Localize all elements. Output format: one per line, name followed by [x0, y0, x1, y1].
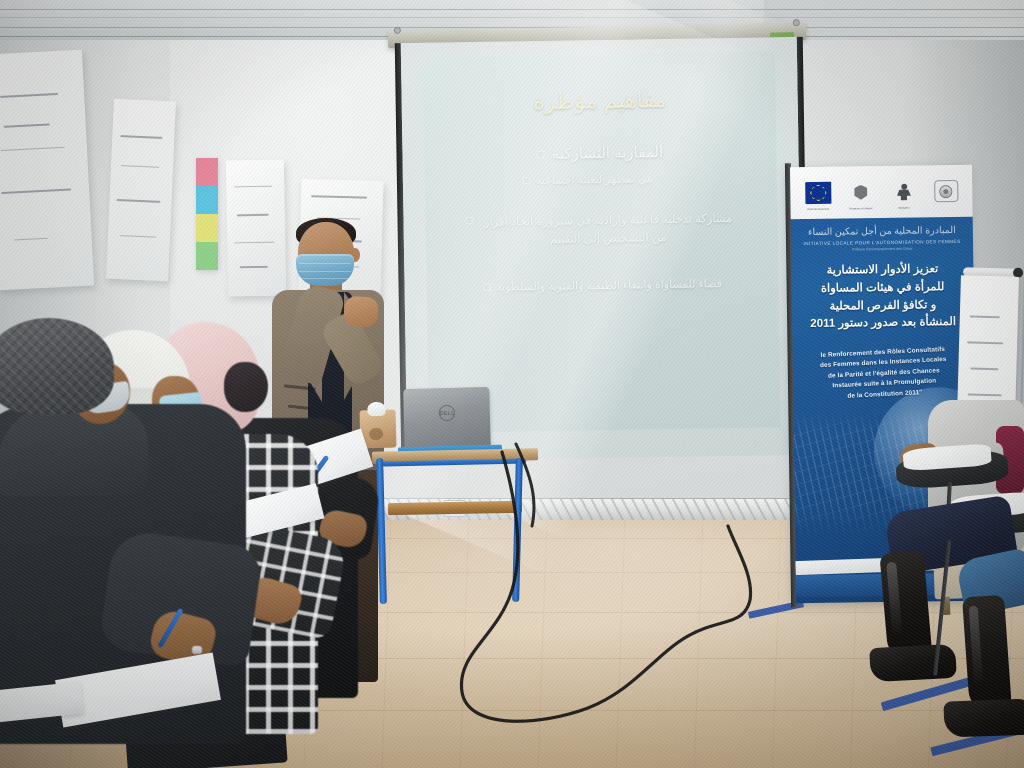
morocco-crest-logo: Royaume du Maroc [848, 181, 874, 203]
banner-header-french: INITIATIVE LOCALE POUR L'AUTONOMISATION … [797, 239, 967, 246]
slide-bullet-level1: المقاربة التشاركية [450, 142, 750, 165]
presentation-slide: مفاهيم مؤطرة المقاربة التشاركية هي تمظهر… [449, 76, 754, 393]
wall-poster-2 [106, 99, 176, 282]
participant-boot [962, 595, 1012, 714]
participant-hood [0, 404, 148, 496]
ministry-figure-logo: Ministère [891, 181, 917, 203]
square-bullet-icon [483, 284, 490, 291]
slide-bullet-text: هي تمظهر لتعبئة اجتماعية [536, 172, 653, 187]
banner-title-line: المنشأة بعد صدور دستور 2011 [798, 314, 968, 334]
banner-title-line: تعزيز الأدوار الاستشارية [797, 261, 967, 281]
banner-header-arabic: المبادرة المحلية من أجل تمكين النساء [797, 225, 967, 238]
participant-blue-jeans [898, 530, 1024, 768]
slide-bullet-text: المقاربة التشاركية [552, 143, 664, 163]
slide-bullet-text: مشاركة تدخلية فاعلية وإرادية في سيرورة ا… [478, 210, 738, 251]
logo-caption: Royaume du Maroc [849, 207, 872, 210]
slide-bullet-level2: فضاء للمساواة وانتفاء الطبقية والفئوية و… [452, 276, 752, 294]
workshop-photo-scene: مفاهيم مؤطرة المقاربة التشاركية هي تمظهر… [0, 0, 1024, 768]
color-strip-poster [196, 158, 218, 270]
laptop[interactable]: DELL [403, 387, 491, 449]
wall-poster-1 [0, 50, 94, 291]
participant-boot [943, 698, 1024, 737]
presenter-face-mask [296, 254, 354, 286]
eu-flag-logo: Union Européenne [805, 182, 831, 204]
circular-association-logo [934, 180, 958, 202]
banner-header-sub: Politique d'accompagnement des Chaux [797, 246, 967, 252]
banner-title-arabic: تعزيز الأدوار الاستشارية للمرأة في هيئات… [797, 261, 968, 335]
participant-boot [869, 644, 957, 682]
slide-title: مفاهيم مؤطرة [449, 86, 749, 117]
presenter-desk: DELL [372, 436, 538, 608]
square-bullet-icon [465, 217, 472, 224]
slide-bullet-text: فضاء للمساواة وانتفاء الطبقية والفئوية و… [496, 277, 722, 294]
banner-title-line: و تكافؤ الفرص المحلية [798, 296, 968, 316]
logo-caption: Ministère [899, 207, 910, 210]
slide-bullet-level2: هي تمظهر لتعبئة اجتماعية [451, 171, 751, 189]
banner-header: المبادرة المحلية من أجل تمكين النساء INI… [797, 225, 967, 252]
laptop-brand-mark: DELL [439, 405, 455, 421]
slide-bullet-level2: مشاركة تدخلية فاعلية وإرادية في سيرورة ا… [451, 210, 752, 251]
finger-ring [192, 646, 202, 654]
banner-title-french: le Renforcement des Rôles Consultatifs d… [798, 344, 970, 404]
square-bullet-icon [523, 177, 530, 184]
logo-caption: Union Européenne [807, 208, 829, 211]
banner-logo-bar: Union Européenne Royaume du Maroc Minist… [790, 165, 973, 220]
square-bullet-icon [538, 150, 545, 157]
projected-slide-area: مفاهيم مؤطرة المقاربة التشاركية هي تمظهر… [423, 51, 781, 432]
participant-knit-beanie [0, 318, 114, 414]
banner-title-line: للمرأة في هيئات المساواة [798, 279, 968, 299]
